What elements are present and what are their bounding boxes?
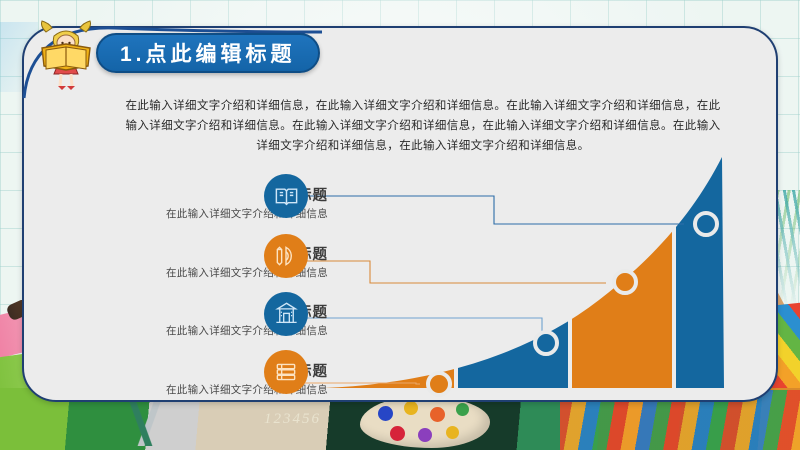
school-building-icon[interactable] [264, 292, 308, 336]
chart-marker-4 [695, 213, 717, 235]
pencil-protractor-icon[interactable] [264, 234, 308, 278]
chart-segments [324, 148, 736, 393]
open-book-icon[interactable] [264, 174, 308, 218]
chart-segment-4 [676, 148, 736, 393]
slide-title[interactable]: 1.点此编辑标题 [96, 33, 320, 73]
chart-marker-1 [428, 373, 450, 395]
chart-segment-1 [324, 148, 454, 393]
chart-segment-2 [458, 148, 568, 393]
chart-marker-3 [614, 271, 636, 293]
chart-marker-2 [535, 332, 557, 354]
stacked-books-icon[interactable] [264, 350, 308, 394]
body-paragraph: 在此输入详细文字介绍和详细信息，在此输入详细文字介绍和详细信息。在此输入详细文字… [120, 96, 726, 156]
girl-reading-illustration [34, 18, 98, 92]
